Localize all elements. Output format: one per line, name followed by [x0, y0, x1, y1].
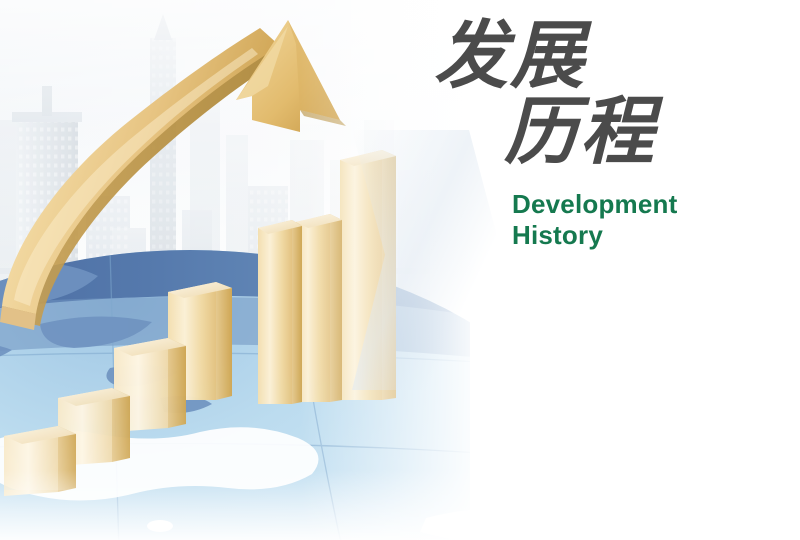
- artwork-panel: [0, 0, 470, 540]
- title-chinese-line-1: 发展: [434, 22, 768, 92]
- growth-arrow: [0, 0, 470, 540]
- title-block: 发展 历程 Development History: [428, 22, 768, 252]
- title-english-line-2: History: [512, 220, 768, 252]
- title-english-line-1: Development: [512, 189, 768, 221]
- title-chinese-line-2: 历程: [504, 98, 768, 168]
- banner-root: 发展 历程 Development History: [0, 0, 800, 540]
